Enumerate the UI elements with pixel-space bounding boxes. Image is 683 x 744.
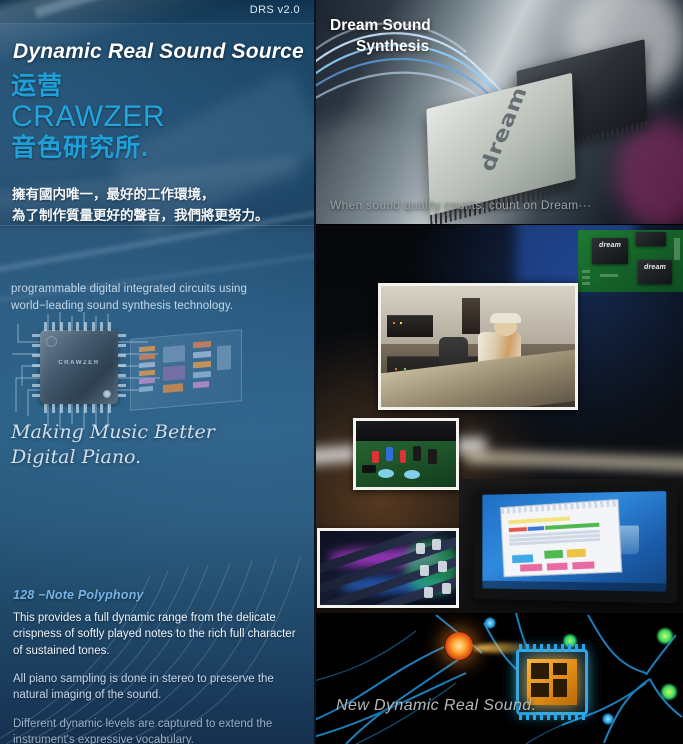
polyphony-heading: 128 −Note Polyphony — [13, 588, 144, 602]
monitor-bezel — [473, 485, 677, 604]
brand-name: CRAWZER — [11, 102, 165, 132]
software-monitor-photo-tile — [459, 479, 683, 615]
monitor-screen — [483, 491, 666, 592]
left-info-panel: DRS v2.0 Dynamic Real Sound Source 运营 CR… — [0, 0, 314, 744]
param-bar — [508, 517, 570, 525]
capacitor — [400, 450, 406, 463]
polyphony-body: This provides a full dynamic range from … — [13, 610, 303, 744]
circuit-board-photo-tile — [353, 418, 459, 490]
chip-leads — [519, 644, 585, 652]
mixer-button — [432, 539, 441, 550]
chip-caption: programmable digital integrated circuits… — [11, 281, 247, 316]
equipment-rack — [387, 315, 434, 337]
neuron-node — [602, 713, 614, 725]
footer-caption: New Dynamic Real Sound. — [336, 697, 536, 715]
color-cell — [519, 564, 542, 572]
color-cell — [572, 562, 594, 570]
capacitor — [386, 447, 393, 461]
color-cell — [567, 549, 586, 558]
right-media-column: dream Dream Sound Synthesis When sound q… — [316, 0, 683, 744]
param-bar — [528, 527, 544, 532]
core-segment — [531, 683, 549, 697]
hero-title-line-1: Dream Sound — [330, 17, 431, 34]
tagline-line-2: Digital Piano. — [11, 445, 215, 470]
solder-pad — [600, 274, 618, 277]
param-bar — [508, 528, 526, 533]
window-toolbar — [501, 501, 617, 515]
rack-led — [393, 322, 395, 324]
hero-title-line-2: Synthesis — [330, 37, 431, 58]
integrated-circuit-illustration: CRAWZER — [8, 312, 253, 434]
polyphony-paragraph: All piano sampling is done in stereo to … — [13, 671, 303, 704]
drs-brochure-page: DRS v2.0 Dynamic Real Sound Source 运营 CR… — [0, 0, 683, 744]
rack-led — [400, 322, 402, 324]
capacitor — [372, 451, 379, 463]
photo-collage: dream dream — [316, 225, 683, 615]
pcb-schematic-ghost — [130, 329, 242, 411]
smd-pad — [404, 470, 420, 479]
neuron-node — [444, 631, 474, 661]
brand-block: 运营 CRAWZER 音色研究所. — [11, 74, 165, 161]
mixer-button — [416, 543, 425, 554]
solder-pad — [674, 238, 680, 260]
dream-wordmark: dream — [476, 84, 533, 174]
solder-pad — [582, 282, 590, 285]
hero-dream-chip-photo: dream Dream Sound Synthesis When sound q… — [316, 0, 683, 224]
memory-ic — [636, 232, 666, 246]
studio-speaker — [462, 298, 479, 334]
polyphony-paragraph: This provides a full dynamic range from … — [13, 610, 303, 659]
lede-paragraph: 擁有國内唯一，最好的工作環境， 為了制作質量更好的聲音，我們將更努力。 — [12, 185, 269, 227]
core-segment — [553, 679, 567, 697]
core-segment — [531, 663, 549, 679]
brand-chinese-bottom: 音色研究所. — [11, 136, 165, 161]
tagline: Making Music Better Digital Piano. — [11, 420, 215, 471]
capacitor — [413, 446, 421, 461]
dream-wordmark: dream — [592, 242, 628, 249]
neural-network-graphic — [316, 613, 683, 744]
pcb-photo-tile: dream dream — [578, 230, 683, 292]
smd-pad — [378, 469, 394, 478]
brand-chinese-top: 运营 — [11, 74, 165, 99]
panel-divider-glow — [0, 228, 314, 232]
lede-line-2: 為了制作質量更好的聲音，我們將更努力。 — [12, 206, 269, 227]
dream-wordmark: dream — [638, 264, 672, 271]
dream-ic: dream — [638, 260, 672, 284]
lede-line-1: 擁有國内唯一，最好的工作環境， — [12, 185, 269, 206]
neuron-node — [656, 627, 674, 645]
mixer-button — [420, 565, 429, 576]
engineer-cap — [490, 313, 521, 324]
neuron-node — [484, 617, 496, 629]
mixer-button — [442, 583, 451, 594]
rack-led — [395, 368, 397, 370]
bokeh-light — [616, 120, 683, 224]
color-cell — [544, 550, 563, 559]
recording-studio-photo-tile — [378, 283, 578, 410]
solder-pad — [582, 270, 590, 273]
version-label: DRS v2.0 — [250, 4, 300, 16]
chip-caption-line-1: programmable digital integrated circuits… — [11, 281, 247, 298]
footer-neural-banner: New Dynamic Real Sound. — [316, 613, 683, 744]
hero-title: Dream Sound Synthesis — [330, 16, 431, 57]
core-segment — [553, 663, 567, 675]
neuron-node — [660, 683, 678, 701]
mixer-button — [438, 561, 447, 572]
connector — [362, 465, 376, 473]
page-headline: Dynamic Real Sound Source — [13, 40, 304, 64]
dream-ic: dream — [592, 238, 628, 264]
capacitor — [428, 449, 437, 464]
hero-caption: When sound quality counts, count on Drea… — [330, 198, 591, 212]
mixer-faders-photo-tile — [317, 528, 459, 608]
color-cell — [547, 563, 568, 571]
editor-window — [500, 500, 622, 578]
os-taskbar — [483, 581, 666, 592]
tagline-line-1: Making Music Better — [11, 420, 215, 445]
polyphony-paragraph: Different dynamic levels are captured to… — [13, 716, 303, 744]
machine-arm — [356, 421, 456, 441]
solder-pad — [582, 276, 590, 279]
color-cell — [512, 555, 533, 564]
mixer-button — [424, 587, 433, 598]
